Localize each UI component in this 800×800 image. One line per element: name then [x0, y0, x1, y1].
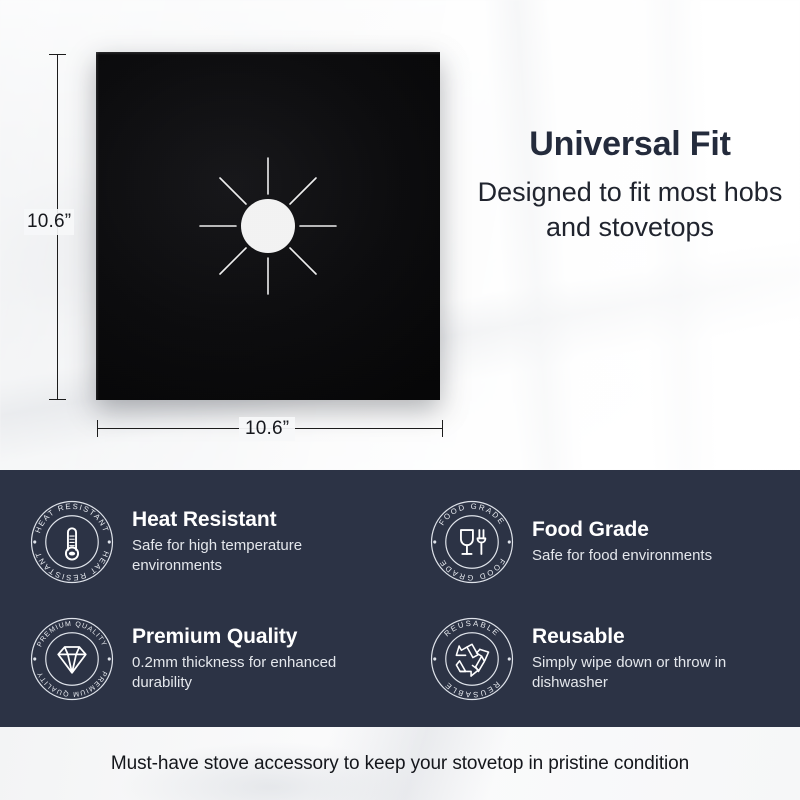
feature-item-heat-resistant: HEAT RESISTANT HEAT RESISTANT: [0, 484, 400, 601]
feature-item-premium-quality: PREMIUM QUALITY PREMIUM QUALITY: [0, 601, 400, 718]
height-dimension-cap-top: [49, 54, 66, 55]
feature-description: Safe for high temperature environments: [132, 536, 390, 576]
badge-arc-text-top: FOOD GRADE: [437, 502, 507, 527]
hero-title: Universal Fit: [470, 126, 790, 163]
feature-text-block: Heat Resistant Safe for high temperature…: [132, 508, 390, 576]
hero-section: 10.6” 10.6” Universal Fit Designed to fi…: [0, 0, 800, 470]
feature-title: Heat Resistant: [132, 508, 390, 532]
reusable-badge: REUSABLE REUSABLE: [426, 613, 518, 705]
badge-arc-text-top: PREMIUM QUALITY: [36, 620, 107, 647]
feature-description: Safe for food environments: [532, 546, 712, 566]
feature-item-food-grade: FOOD GRADE FOOD GRADE: [400, 484, 800, 601]
badge-arc-text-bottom: PREMIUM QUALITY: [36, 670, 107, 697]
footer-tagline-bar: Must-have stove accessory to keep your s…: [0, 727, 800, 800]
recycle-icon: [456, 644, 488, 676]
svg-text:FOOD GRADE: FOOD GRADE: [437, 557, 507, 582]
feature-text-block: Reusable Simply wipe down or throw in di…: [532, 625, 790, 693]
feature-item-reusable: REUSABLE REUSABLE: [400, 601, 800, 718]
stove-mat-product-image: [96, 52, 440, 400]
product-infographic: 10.6” 10.6” Universal Fit Designed to fi…: [0, 0, 800, 800]
feature-title: Food Grade: [532, 518, 712, 542]
svg-text:PREMIUM QUALITY: PREMIUM QUALITY: [36, 670, 107, 697]
food-grade-badge: FOOD GRADE FOOD GRADE: [426, 496, 518, 588]
badge-arc-text-top: REUSABLE: [442, 618, 501, 638]
height-dimension-label: 10.6”: [24, 209, 74, 235]
features-grid: HEAT RESISTANT HEAT RESISTANT: [0, 470, 800, 727]
svg-text:HEAT RESISTANT: HEAT RESISTANT: [33, 502, 110, 534]
feature-description: 0.2mm thickness for enhanced durability: [132, 653, 390, 693]
features-section: HEAT RESISTANT HEAT RESISTANT: [0, 470, 800, 727]
feature-title: Premium Quality: [132, 625, 390, 649]
hero-subtitle: Designed to fit most hobs and stovetops: [470, 175, 790, 244]
badge-arc-text-bottom: REUSABLE: [442, 679, 501, 699]
svg-text:REUSABLE: REUSABLE: [442, 679, 501, 699]
width-dimension-cap-right: [442, 420, 443, 437]
svg-text:REUSABLE: REUSABLE: [442, 618, 501, 638]
footer-tagline: Must-have stove accessory to keep your s…: [111, 753, 689, 775]
feature-text-block: Food Grade Safe for food environments: [532, 518, 712, 566]
feature-description: Simply wipe down or throw in dishwasher: [532, 653, 790, 693]
diamond-icon: [58, 647, 86, 673]
hero-copy-block: Universal Fit Designed to fit most hobs …: [470, 126, 790, 244]
badge-arc-text-top: HEAT RESISTANT: [33, 502, 110, 534]
badge-arc-text-bottom: FOOD GRADE: [437, 557, 507, 582]
burner-starburst-icon: [198, 156, 338, 296]
heat-resistant-badge: HEAT RESISTANT HEAT RESISTANT: [26, 496, 118, 588]
width-dimension-label: 10.6”: [239, 417, 295, 441]
svg-text:FOOD GRADE: FOOD GRADE: [437, 502, 507, 527]
svg-text:PREMIUM QUALITY: PREMIUM QUALITY: [36, 620, 107, 647]
width-dimension-cap-left: [97, 420, 98, 437]
height-dimension-cap-bottom: [49, 399, 66, 400]
glass-fork-icon: [461, 530, 485, 554]
premium-quality-badge: PREMIUM QUALITY PREMIUM QUALITY: [26, 613, 118, 705]
feature-text-block: Premium Quality 0.2mm thickness for enha…: [132, 625, 390, 693]
feature-title: Reusable: [532, 625, 790, 649]
